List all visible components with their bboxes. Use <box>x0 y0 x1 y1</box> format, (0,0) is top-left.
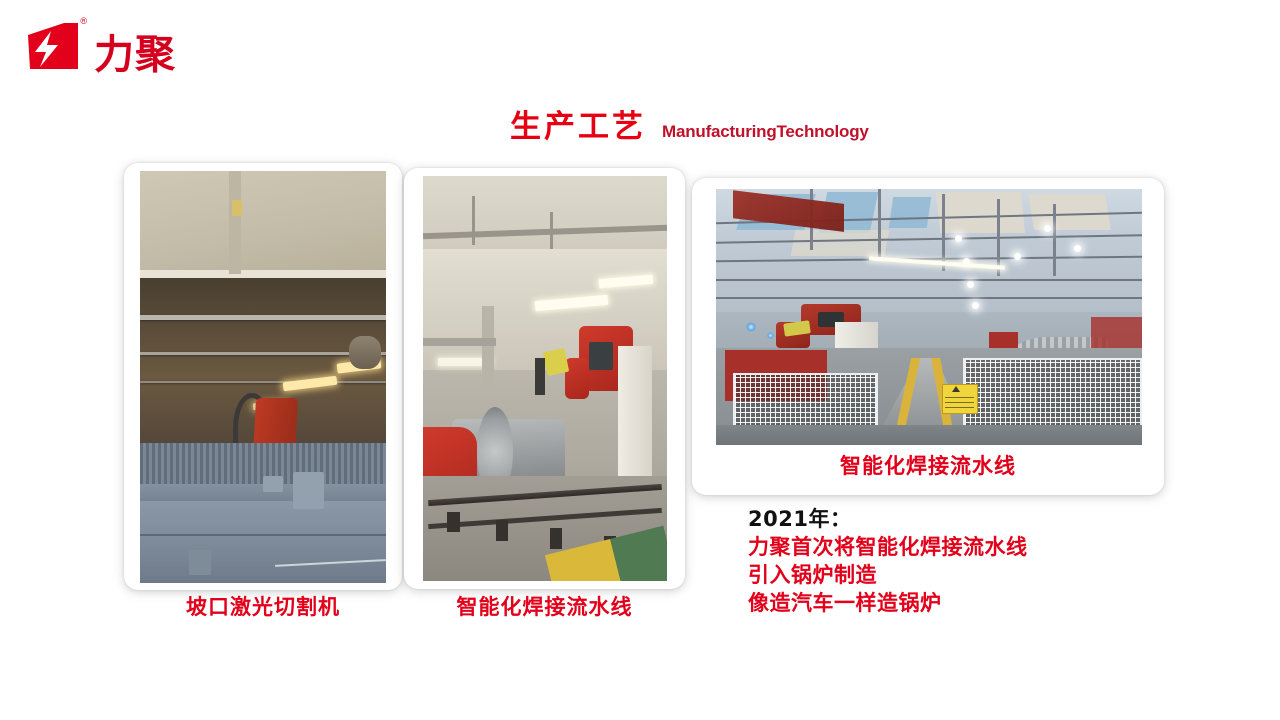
page-title-english: ManufacturingTechnology <box>662 123 869 140</box>
registered-mark-icon: ® <box>80 17 87 26</box>
description-line-2: 引入锅炉制造 <box>748 562 1168 590</box>
photo-card-caption: 坡口激光切割机 <box>124 597 402 618</box>
intelligent-welding-line-wide-photo <box>716 189 1142 445</box>
description-text-block: 2021年： 力聚首次将智能化焊接流水线 引入锅炉制造 像造汽车一样造锅炉 <box>748 506 1168 618</box>
page-title: 生产工艺 ManufacturingTechnology <box>510 112 869 143</box>
brand-logo: ® 力聚 <box>18 17 176 79</box>
photo-card-caption: 智能化焊接流水线 <box>692 456 1164 477</box>
intelligent-welding-line-photo <box>423 176 667 581</box>
bevel-laser-cutting-machine-photo <box>140 171 386 583</box>
year-label: 2021年： <box>748 506 1168 534</box>
photo-card-bevel-laser-cutter[interactable] <box>124 163 402 590</box>
brand-name: 力聚 <box>94 35 176 75</box>
page-title-chinese: 生产工艺 <box>510 112 646 143</box>
photo-card-welding-line-near[interactable] <box>404 168 685 589</box>
description-line-3: 像造汽车一样造锅炉 <box>748 590 1168 618</box>
photo-card-welding-line-wide[interactable]: 智能化焊接流水线 <box>692 178 1164 495</box>
description-line-1: 力聚首次将智能化焊接流水线 <box>748 534 1168 562</box>
photo-card-caption: 智能化焊接流水线 <box>404 597 685 618</box>
lightning-bolt-logo-icon: ® <box>18 19 88 79</box>
